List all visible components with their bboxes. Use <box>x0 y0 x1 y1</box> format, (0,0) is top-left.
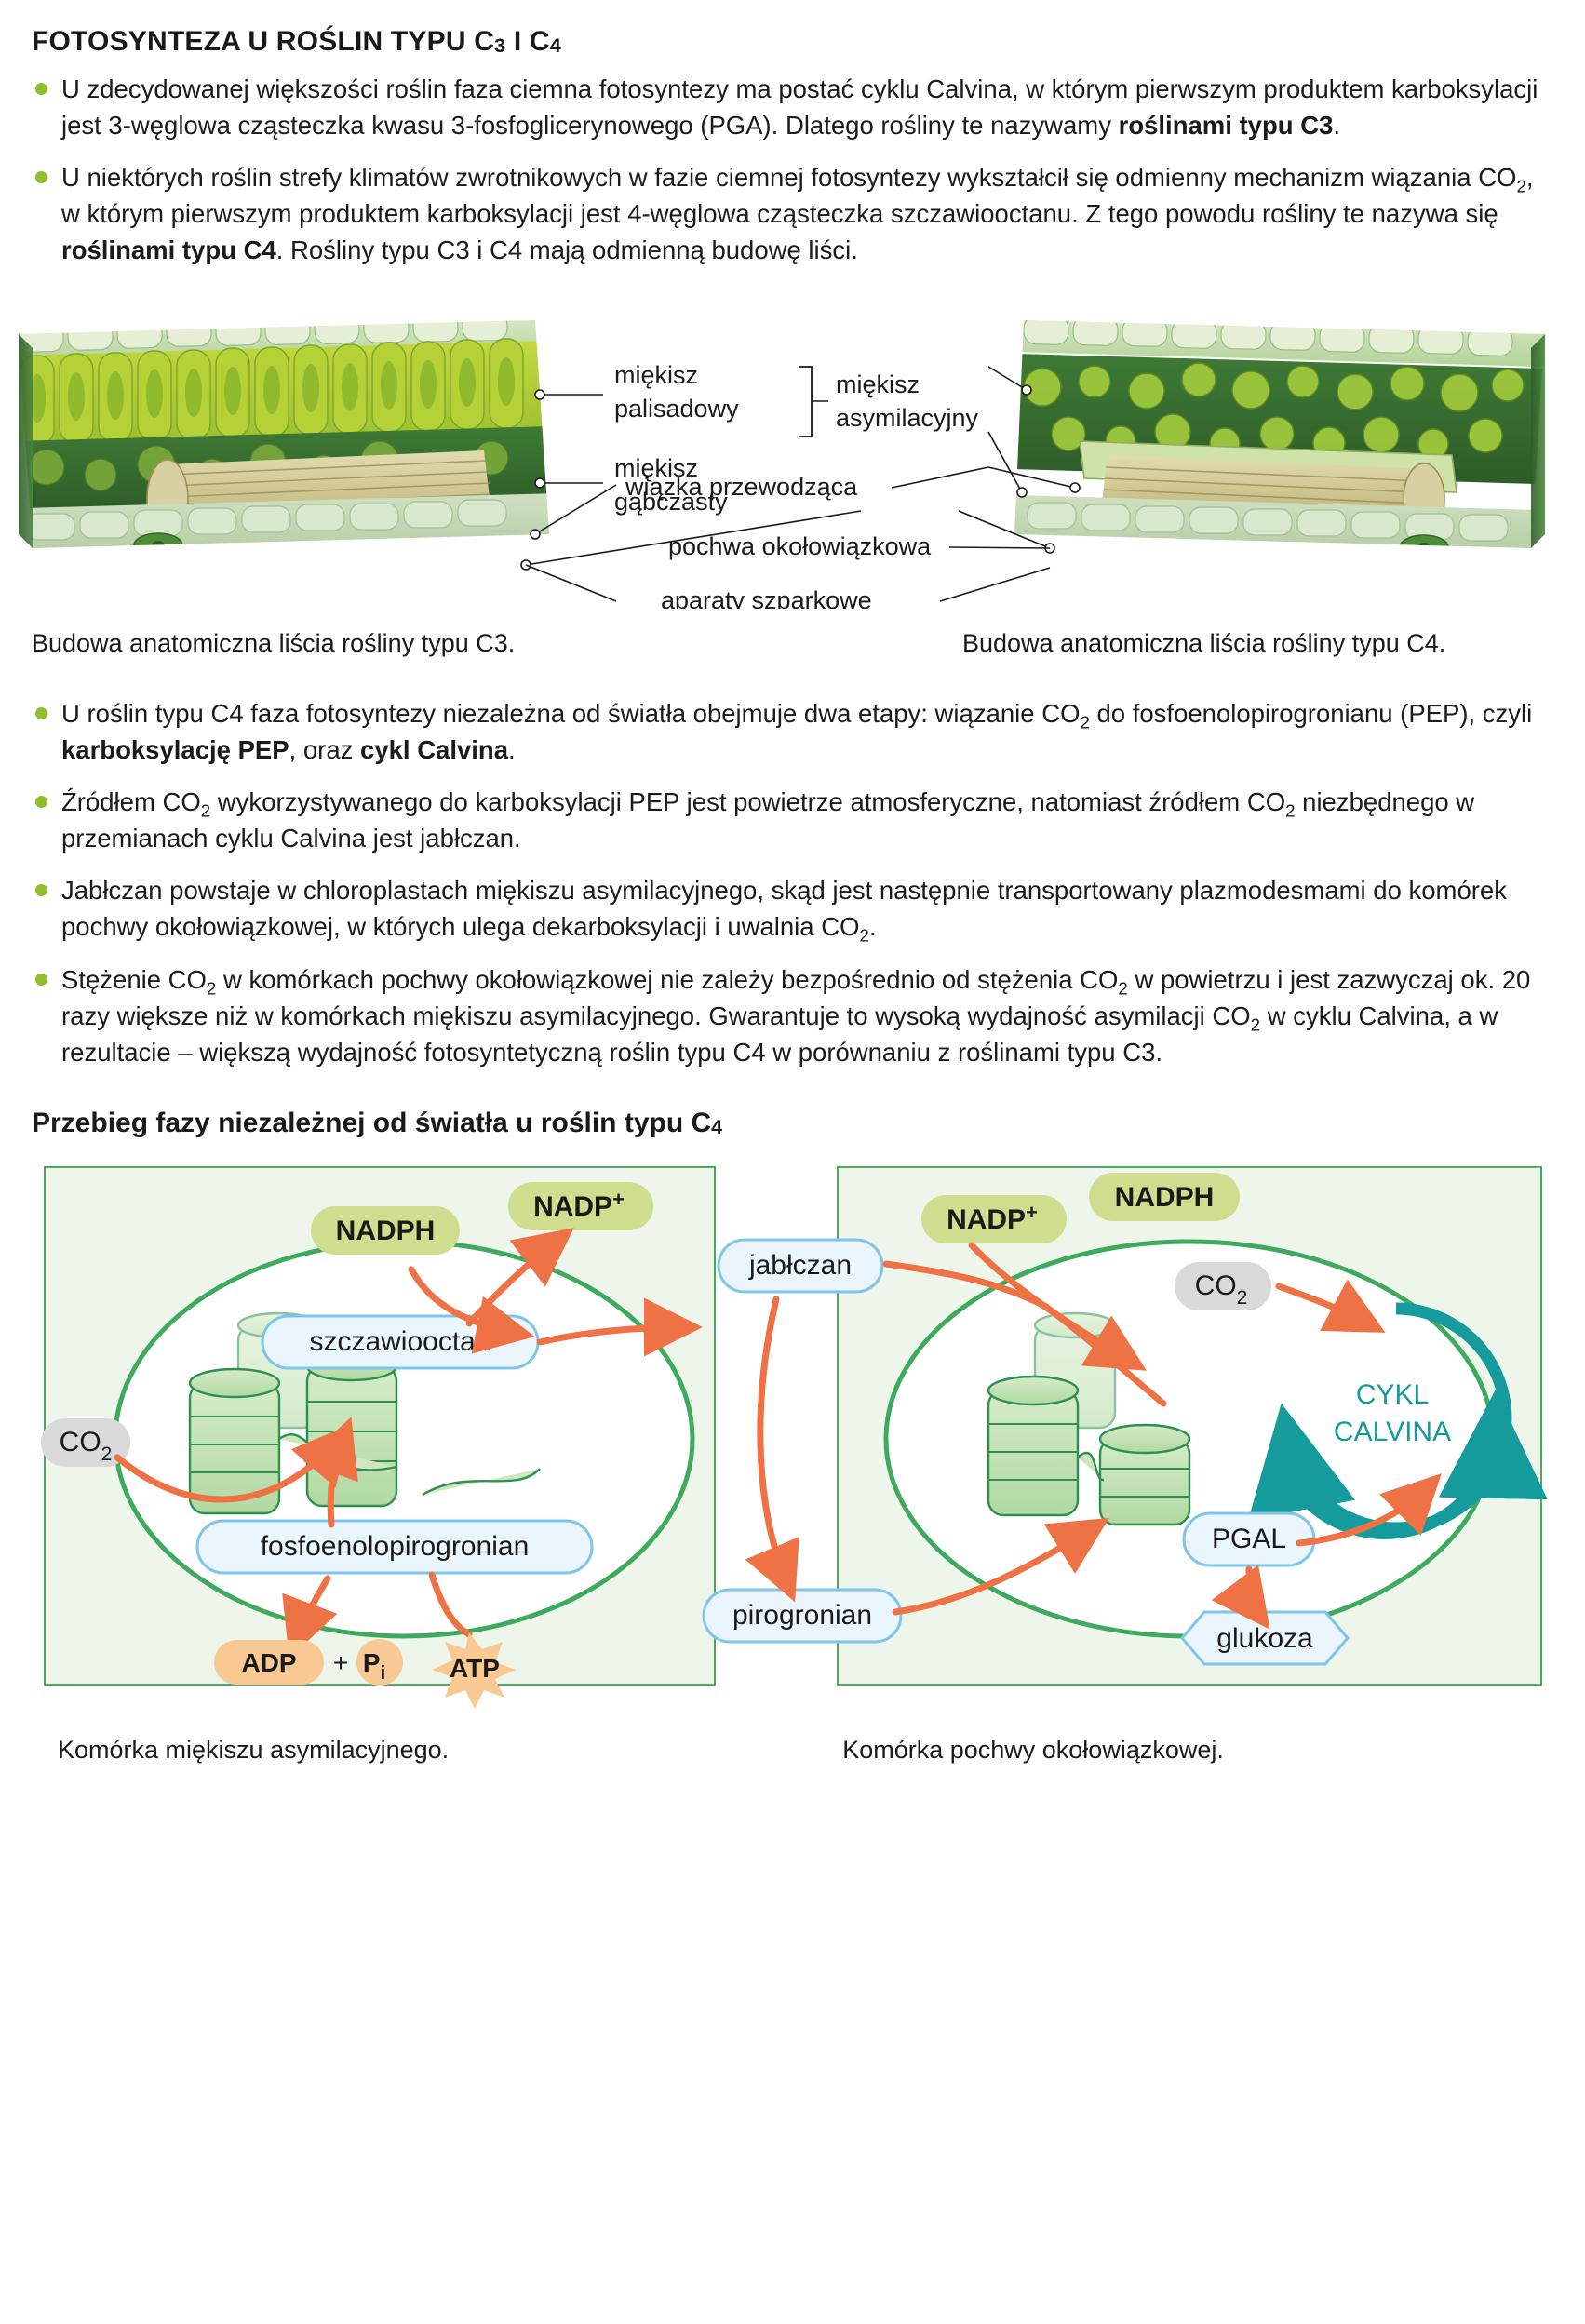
bullet-concentration: Stężenie CO2 w komórkach pochwy okołowią… <box>32 961 1558 1070</box>
main-bullet-list: U roślin typu C4 faza fotosyntezy niezal… <box>32 695 1558 1069</box>
co2-sub-left: 2 <box>101 1444 113 1465</box>
pirogronian-box: pirogronian <box>704 1590 901 1642</box>
leaf-figure-labels: miękisz palisadowy miękisz gąbczasty mię… <box>614 361 979 609</box>
textbook-page: FOTOSYNTEZA U ROŚLIN TYPU C3 I C4 U zdec… <box>0 26 1585 2324</box>
glukoza-box: glukoza <box>1182 1612 1348 1664</box>
page-title-mid: I C <box>505 26 549 57</box>
leaf-block-c3 <box>0 311 562 570</box>
section-heading: Przebieg fazy niezależnej od światła u r… <box>32 1108 1585 1139</box>
cykl-calvina-line1: CYKL <box>1356 1379 1429 1410</box>
fosfoenolopirogronian-label: fosfoenolopirogronian <box>261 1531 530 1562</box>
pirogronian-label: pirogronian <box>732 1600 872 1631</box>
pi-sub: i <box>381 1663 386 1684</box>
nadp-plus-sup-right: + <box>1026 1201 1038 1224</box>
section-heading-prefix: Przebieg fazy niezależnej od światła u r… <box>32 1108 711 1138</box>
label-miekisz-asymilacyjny-line1: miękisz <box>836 370 920 398</box>
nadph-label-right: NADPH <box>1115 1182 1215 1213</box>
nadp-plus-sup-left: + <box>612 1188 625 1211</box>
pgal-label: PGAL <box>1212 1524 1286 1554</box>
page-title: FOTOSYNTEZA U ROŚLIN TYPU C3 I C4 <box>32 26 1585 58</box>
label-pochwa-okolowiazkowa: pochwa okołowiązkowa <box>668 532 932 560</box>
leaf-block-c4 <box>1005 311 1582 568</box>
page-title-prefix: FOTOSYNTEZA U ROŚLIN TYPU C <box>32 26 494 57</box>
nadph-chip-left: NADPH <box>311 1206 460 1255</box>
co2-sub-right: 2 <box>1237 1287 1248 1309</box>
label-miekisz-palisadowy-line1: miękisz <box>614 361 698 389</box>
nadp-plus-label-left: NADP <box>533 1191 612 1222</box>
adp-label: ADP <box>241 1648 296 1677</box>
leaf-figure-captions: Budowa anatomiczna liścia rośliny typu C… <box>32 629 1558 658</box>
caption-c3: Budowa anatomiczna liścia rośliny typu C… <box>32 629 795 658</box>
label-miekisz-asymilacyjny-line2: asymilacyjny <box>836 404 979 432</box>
co2-chip-right: CO2 <box>1175 1262 1271 1310</box>
caption-bundle-sheath-cell: Komórka pochwy okołowiązkowej. <box>764 1736 1558 1765</box>
cykl-calvina-line2: CALVINA <box>1334 1417 1451 1447</box>
pathway-captions: Komórka miękiszu asymilacyjnego. Komórka… <box>32 1736 1558 1765</box>
label-wiazka-przewodzaca: wiązka przewodząca <box>625 473 858 501</box>
co2-label-right: CO <box>1195 1270 1237 1301</box>
atp-label: ATP <box>450 1654 500 1683</box>
label-aparaty-szparkowe: aparaty szparkowe <box>661 586 872 609</box>
nadp-plus-label-right: NADP <box>947 1204 1026 1235</box>
pi-label: P <box>363 1648 381 1677</box>
szczawiooctan-label: szczawiooctan <box>309 1326 490 1357</box>
pathway-diagram: CO2 NADPH NADP+ szczawiooctan <box>32 1160 1558 1723</box>
co2-label-left: CO <box>60 1427 101 1458</box>
page-title-num-4: 4 <box>550 34 561 57</box>
glukoza-label: glukoza <box>1216 1623 1313 1654</box>
bullet-c3: U zdecydowanej większości roślin faza ci… <box>32 71 1558 143</box>
nadph-chip-right: NADPH <box>1089 1173 1240 1221</box>
bullet-c4: U niektórych roślin strefy klimatów zwro… <box>32 159 1558 268</box>
caption-mesophyll-cell: Komórka miękiszu asymilacyjnego. <box>32 1736 764 1765</box>
jablczan-box: jabłczan <box>719 1240 882 1292</box>
bullet-malate: Jabłczan powstaje w chloroplastach mięki… <box>32 872 1558 945</box>
svg-text:NADP+: NADP+ <box>947 1201 1038 1235</box>
jablczan-label: jabłczan <box>748 1250 852 1281</box>
bullet-two-stages: U roślin typu C4 faza fotosyntezy niezal… <box>32 695 1558 768</box>
bullet-co2-source: Źródłem CO2 wykorzystywanego do karboksy… <box>32 784 1558 856</box>
nadph-label-left: NADPH <box>336 1216 436 1246</box>
nadp-plus-chip-right: NADP+ <box>921 1195 1067 1243</box>
leaf-figure-svg: miękisz palisadowy miękisz gąbczasty mię… <box>0 302 1585 609</box>
label-miekisz-palisadowy-line2: palisadowy <box>614 395 739 423</box>
caption-c4: Budowa anatomiczna liścia rośliny typu C… <box>795 629 1558 658</box>
intro-bullet-list: U zdecydowanej większości roślin faza ci… <box>32 71 1558 268</box>
page-title-num-3: 3 <box>494 34 505 57</box>
fosfoenolopirogronian-box: fosfoenolopirogronian <box>197 1521 592 1573</box>
szczawiooctan-box: szczawiooctan <box>262 1316 538 1368</box>
pgal-box: PGAL <box>1184 1513 1314 1565</box>
leaf-anatomy-figure: miękisz palisadowy miękisz gąbczasty mię… <box>0 302 1585 609</box>
plus-sign: + <box>333 1648 348 1677</box>
section-heading-num: 4 <box>711 1115 722 1138</box>
stoma-left <box>134 533 182 557</box>
svg-text:NADP+: NADP+ <box>533 1188 625 1222</box>
stoma-right <box>1400 535 1448 559</box>
pathway-svg: CO2 NADPH NADP+ szczawiooctan <box>32 1160 1558 1718</box>
nadp-plus-chip-left: NADP+ <box>508 1182 653 1230</box>
